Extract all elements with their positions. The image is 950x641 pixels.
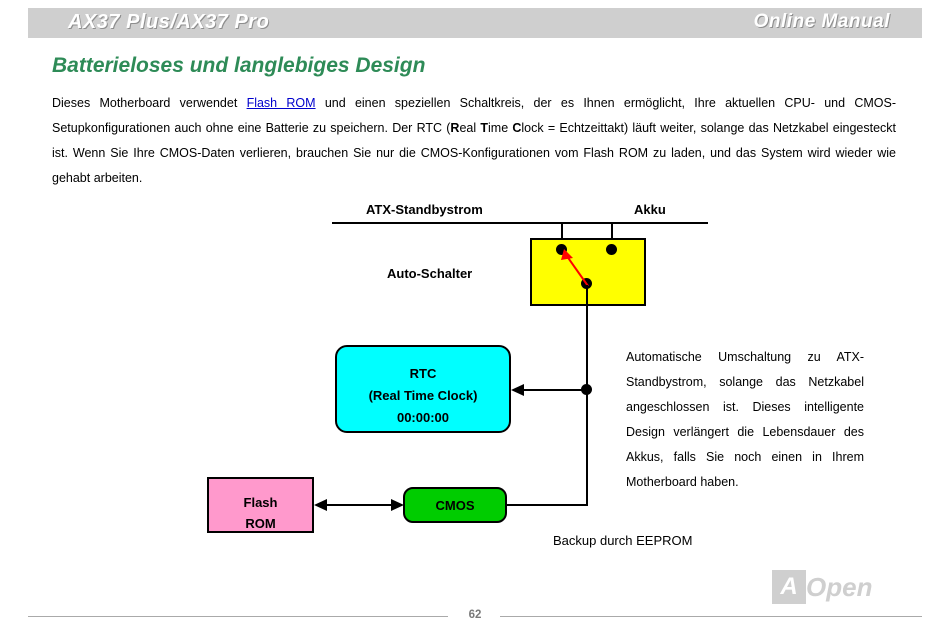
- diagram-label-akku: Akku: [634, 202, 666, 217]
- diagram-label-auto-switch: Auto-Schalter: [387, 266, 472, 281]
- switch-contact-akku: [606, 244, 617, 255]
- page-number: 62: [0, 609, 950, 621]
- rtc-line-2: (Real Time Clock): [337, 385, 509, 407]
- diagram-label-atx-standby: ATX-Standbystrom: [366, 202, 483, 217]
- logo-a-mark: A: [772, 570, 806, 604]
- section-heading: Batterieloses und langlebiges Design: [52, 54, 425, 78]
- arrow-bus-to-rtc: [511, 382, 587, 398]
- flash-rom-link[interactable]: Flash ROM: [247, 96, 316, 110]
- diagram-side-description: Automatische Umschaltung zu ATX-Standbys…: [626, 345, 864, 495]
- arrow-flash-cmos-bidirectional: [314, 497, 404, 513]
- logo-open-text: Open: [806, 570, 872, 604]
- diagram-bus-to-cmos-line: [504, 504, 588, 506]
- rtc-box: RTC (Real Time Clock) 00:00:00: [335, 345, 511, 433]
- diagram-label-backup-eeprom: Backup durch EEPROM: [553, 533, 692, 548]
- flash-rom-line-2: ROM: [209, 513, 312, 534]
- cmos-box: CMOS: [403, 487, 507, 523]
- paragraph-bold-t: T: [480, 121, 488, 135]
- diagram-top-rail: [332, 222, 708, 224]
- aopen-logo: A Open: [772, 570, 890, 604]
- header-online-manual-label: Online Manual: [754, 11, 890, 33]
- rtc-line-3: 00:00:00: [337, 407, 509, 429]
- rtc-line-1: RTC: [337, 363, 509, 385]
- page-title: AX37 Plus/AX37 Pro: [68, 11, 269, 34]
- paragraph-part-4: ime: [488, 121, 512, 135]
- paragraph-part-1: Dieses Motherboard verwendet: [52, 96, 247, 110]
- paragraph-part-3: eal: [459, 121, 480, 135]
- switch-arm-red-arrow: [548, 238, 598, 294]
- flash-rom-line-1: Flash: [209, 492, 312, 513]
- flash-rom-box: Flash ROM: [207, 477, 314, 533]
- battery-less-design-diagram: ATX-Standbystrom Akku Auto-Schalter RTC …: [0, 190, 950, 570]
- body-paragraph: Dieses Motherboard verwendet Flash ROM u…: [52, 91, 896, 191]
